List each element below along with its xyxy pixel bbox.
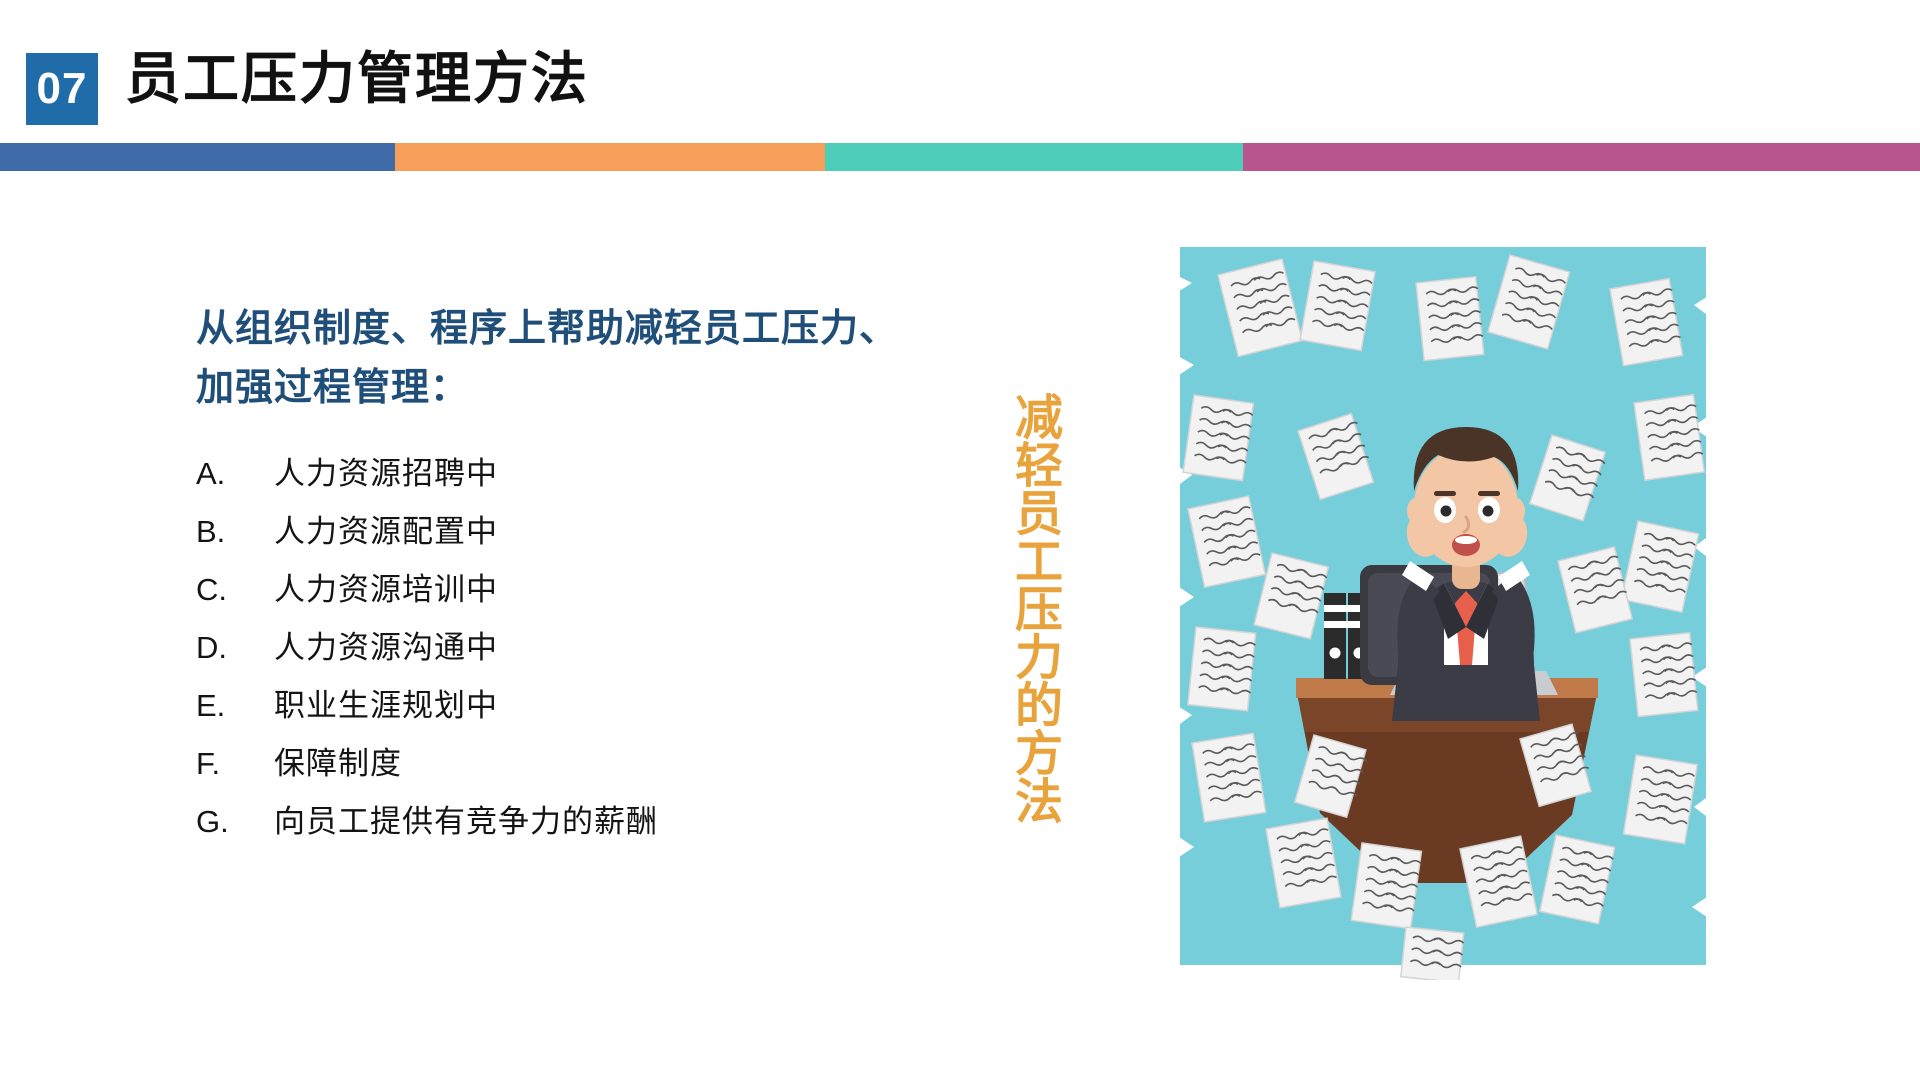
strip-segment-magenta [1243,143,1920,171]
strip-segment-blue [0,143,395,171]
page-title: 员工压力管理方法 [125,48,589,110]
list-item: F. 保障制度 [196,745,956,803]
list-item-key: A. [196,455,274,492]
list-item: A. 人力资源招聘中 [196,455,956,513]
slide-header: 07 员工压力管理方法 [0,0,1920,175]
option-list: A. 人力资源招聘中 B. 人力资源配置中 C. 人力资源培训中 D. 人力资源… [196,455,956,861]
list-item: B. 人力资源配置中 [196,513,956,571]
list-item-text: 职业生涯规划中 [274,687,498,724]
list-item: E. 职业生涯规划中 [196,687,956,745]
list-item: D. 人力资源沟通中 [196,629,956,687]
strip-segment-teal [825,143,1243,171]
list-item-key: E. [196,687,274,724]
list-item-key: C. [196,571,274,608]
list-item-text: 人力资源沟通中 [274,629,498,666]
list-item-text: 向员工提供有竞争力的薪酬 [274,803,658,840]
illustration-svg [1148,235,1738,980]
color-strip [0,143,1920,171]
slide-root: 07 员工压力管理方法 从组织制度、程序上帮助减轻员工压力、 加强过程管理： A… [0,0,1920,1080]
lead-line-1: 从组织制度、程序上帮助减轻员工压力、 [196,300,956,359]
illustration-stressed-worker [1148,235,1738,980]
list-item: G. 向员工提供有竞争力的薪酬 [196,803,956,861]
list-item-text: 人力资源招聘中 [274,455,498,492]
list-item-text: 人力资源培训中 [274,571,498,608]
lead-paragraph: 从组织制度、程序上帮助减轻员工压力、 加强过程管理： [196,300,956,418]
section-number-badge: 07 [26,53,98,125]
list-item-key: B. [196,513,274,550]
vertical-caption: 减轻员工压力的方法 [996,392,1058,824]
list-item-text: 人力资源配置中 [274,513,498,550]
list-item-key: D. [196,629,274,666]
list-item-key: G. [196,803,274,840]
lead-line-2: 加强过程管理： [196,359,956,418]
list-item-text: 保障制度 [274,745,402,782]
list-item-key: F. [196,745,274,782]
list-item: C. 人力资源培训中 [196,571,956,629]
strip-segment-orange [395,143,825,171]
